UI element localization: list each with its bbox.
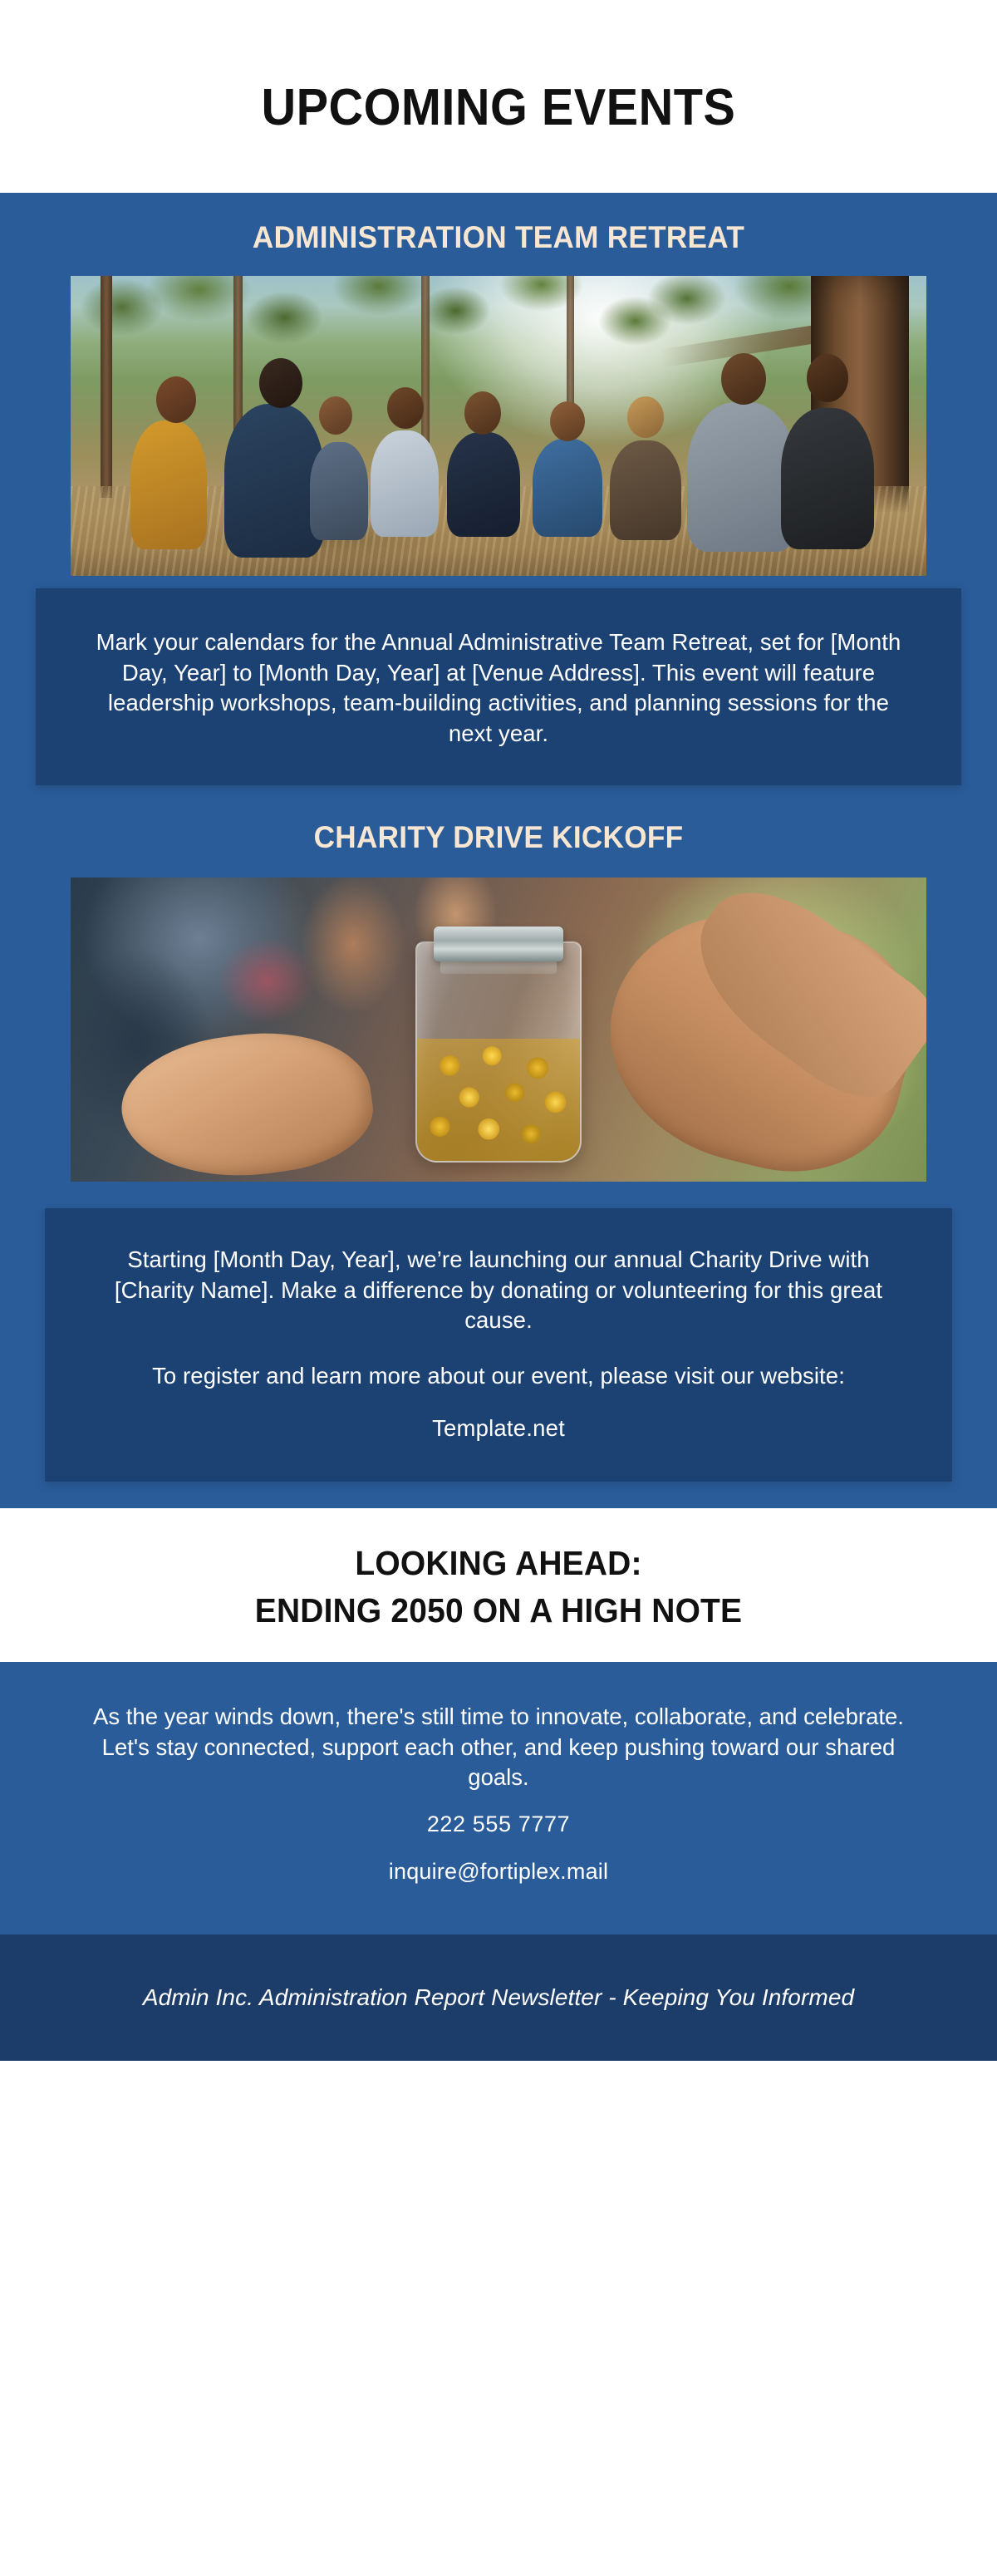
footer-tagline: Admin Inc. Administration Report Newslet…	[143, 1983, 854, 2013]
looking-ahead-title-line1: LOOKING AHEAD:	[355, 1544, 641, 1582]
event-description-charity: Starting [Month Day, Year], we’re launch…	[91, 1245, 906, 1336]
contact-phone[interactable]: 222 555 7777	[80, 1812, 917, 1837]
contact-email[interactable]: inquire@fortiplex.mail	[80, 1859, 917, 1885]
gold-coins	[417, 1039, 580, 1161]
coin-jar	[415, 941, 582, 1163]
person-head	[319, 396, 352, 435]
person-figure	[781, 408, 874, 549]
website-link[interactable]: Template.net	[91, 1415, 906, 1442]
person-head	[807, 354, 848, 402]
looking-ahead-title: LOOKING AHEAD: ENDING 2050 ON A HIGH NOT…	[25, 1545, 972, 1631]
event-register-note: To register and learn more about our eve…	[91, 1361, 906, 1392]
person-head	[464, 391, 501, 435]
person-head	[259, 358, 302, 408]
person-figure	[610, 440, 681, 540]
person-head	[721, 353, 766, 405]
person-figure	[310, 442, 368, 540]
event-heading-charity: CHARITY DRIVE KICKOFF	[25, 785, 972, 878]
tree-trunk	[101, 276, 112, 498]
event-heading-retreat: ADMINISTRATION TEAM RETREAT	[25, 193, 972, 276]
person-head	[627, 396, 664, 438]
closing-message: As the year winds down, there's still ti…	[80, 1702, 917, 1793]
person-figure	[130, 420, 207, 549]
person-figure	[533, 439, 602, 537]
event-card-retreat: Mark your calendars for the Annual Admin…	[36, 588, 961, 785]
looking-ahead-header: LOOKING AHEAD: ENDING 2050 ON A HIGH NOT…	[0, 1508, 997, 1663]
event-description-retreat: Mark your calendars for the Annual Admin…	[96, 627, 901, 749]
page-header: UPCOMING EVENTS	[0, 0, 997, 193]
event-card-charity: Starting [Month Day, Year], we’re launch…	[45, 1208, 952, 1481]
page-title: UPCOMING EVENTS	[262, 82, 736, 134]
event-image-retreat	[71, 276, 926, 576]
page-footer: Admin Inc. Administration Report Newslet…	[0, 1934, 997, 2061]
person-figure	[371, 430, 439, 537]
person-figure	[224, 404, 324, 558]
person-figure	[687, 402, 797, 552]
looking-ahead-title-line2: ENDING 2050 ON A HIGH NOTE	[25, 1592, 972, 1630]
event-image-charity	[71, 878, 926, 1182]
person-head	[550, 401, 585, 441]
person-head	[156, 376, 196, 423]
jar-lid	[434, 927, 563, 961]
closing-section: As the year winds down, there's still ti…	[0, 1662, 997, 1934]
person-figure	[447, 432, 520, 537]
events-section: ADMINISTRATION TEAM RETREAT Mark you	[0, 193, 997, 1508]
person-head	[387, 387, 424, 429]
